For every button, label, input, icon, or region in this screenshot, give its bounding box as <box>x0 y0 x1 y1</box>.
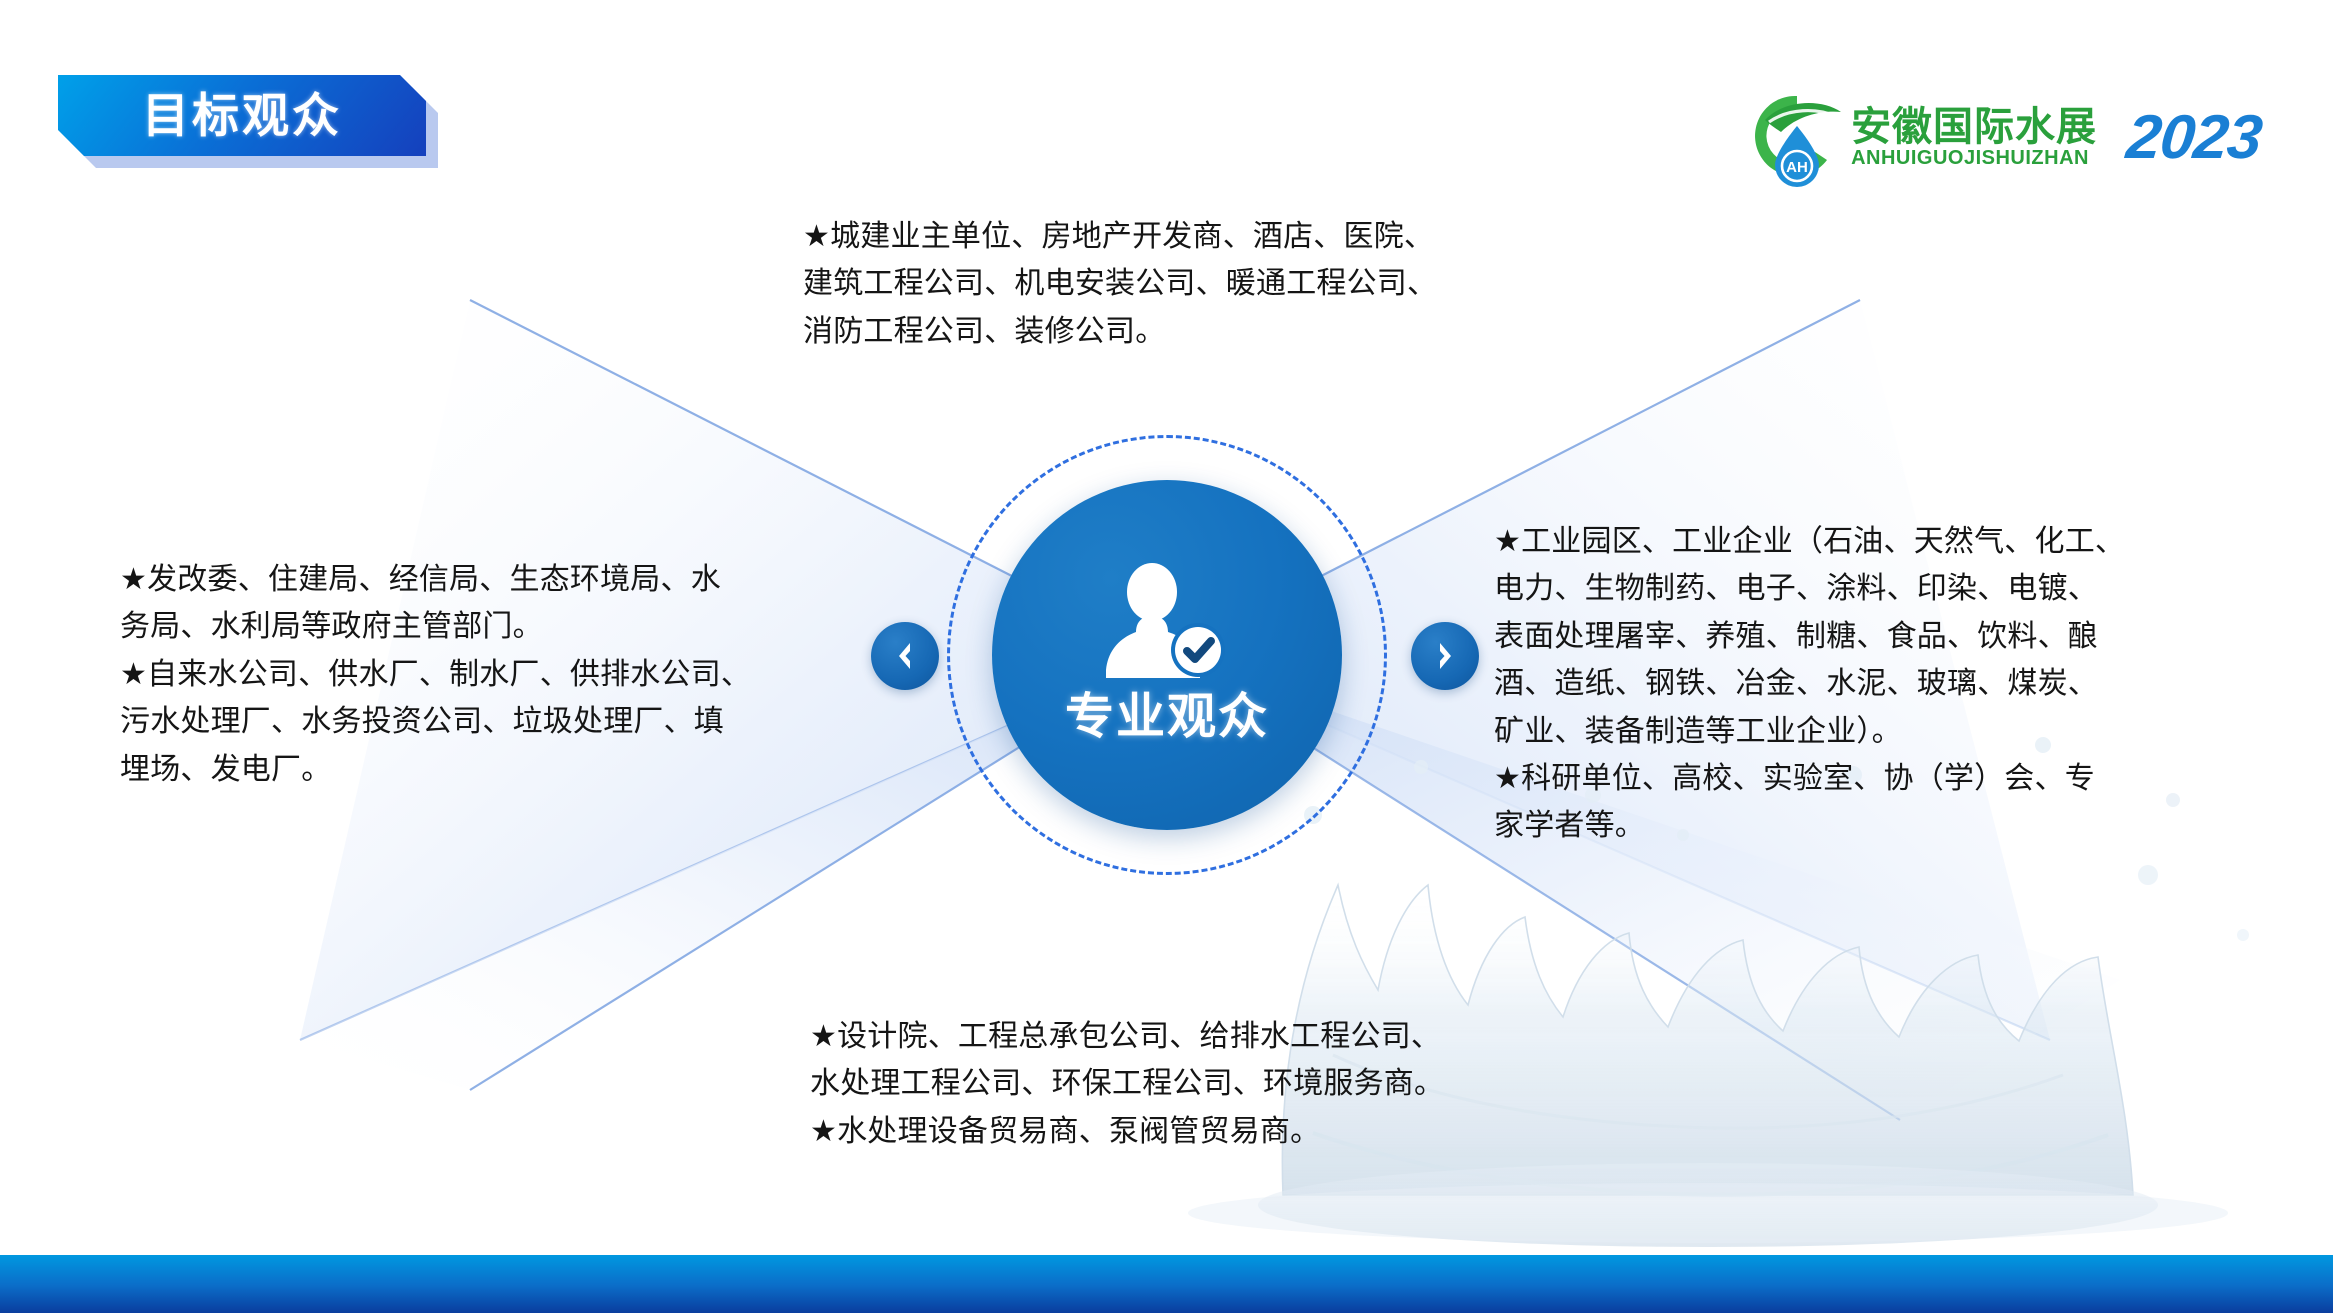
next-arrow-button[interactable] <box>1411 622 1479 690</box>
chevron-right-icon <box>1428 639 1462 673</box>
logo-brand-pinyin: ANHUIGUOJISHUIZHAN <box>1851 148 2097 169</box>
central-hub: 专业观众 <box>947 435 1387 875</box>
slide-canvas: 目标观众 AH 安徽国际水展 ANHUIGUOJISHUIZHAN 2023 <box>0 0 2333 1313</box>
prev-arrow-button[interactable] <box>871 622 939 690</box>
audience-text-right: ★工业园区、工业企业（石油、天然气、化工、 电力、生物制药、电子、涂料、印染、电… <box>1494 518 2284 850</box>
hub-label: 专业观众 <box>1065 693 1269 742</box>
chevron-left-icon <box>888 639 922 673</box>
event-logo: AH 安徽国际水展 ANHUIGUOJISHUIZHAN 2023 <box>1745 86 2261 190</box>
page-title: 目标观众 <box>142 92 342 139</box>
logo-text-block: 安徽国际水展 ANHUIGUOJISHUIZHAN <box>1851 107 2097 169</box>
audience-text-bottom: ★设计院、工程总承包公司、给排水工程公司、 水处理工程公司、环保工程公司、环境服… <box>810 1013 1610 1155</box>
verified-visitor-icon <box>1092 562 1242 687</box>
logo-mark: AH <box>1745 86 1849 190</box>
page-title-badge: 目标观众 <box>58 75 438 168</box>
footer-bar <box>0 1255 2333 1313</box>
badge-body: 目标观众 <box>58 75 426 156</box>
logo-brand-zh: 安徽国际水展 <box>1851 107 2097 148</box>
leaf-droplet-icon: AH <box>1745 86 1849 190</box>
logo-initials: AH <box>1786 159 1808 176</box>
audience-text-top: ★城建业主单位、房地产开发商、酒店、医院、 建筑工程公司、机电安装公司、暖通工程… <box>803 213 1623 355</box>
hub-circle[interactable]: 专业观众 <box>992 480 1342 830</box>
logo-year: 2023 <box>2124 107 2264 169</box>
audience-text-left: ★发改委、住建局、经信局、生态环境局、水 务局、水利局等政府主管部门。 ★自来水… <box>120 556 860 793</box>
